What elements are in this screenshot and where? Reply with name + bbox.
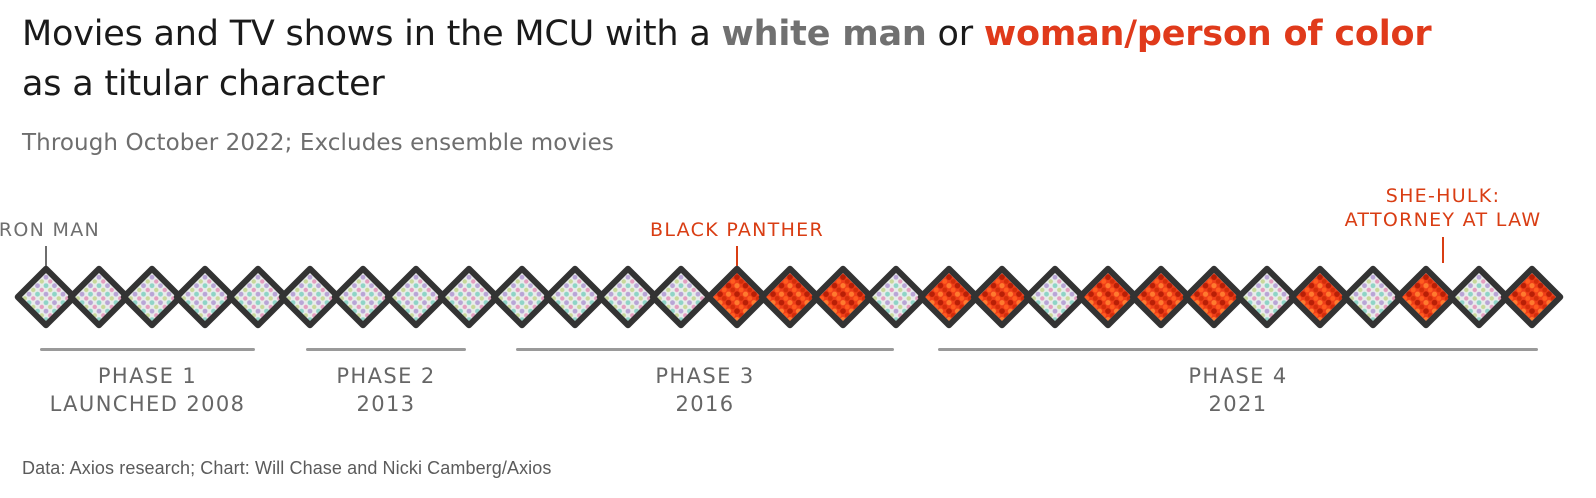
phase-group-4: PHASE 4 2021 [938, 348, 1538, 418]
title-line-2: as a titular character [22, 64, 385, 104]
callout-she-hulk: SHE-HULK: ATTORNEY AT LAW [1243, 184, 1596, 263]
phase-label: PHASE 4 2021 [938, 363, 1538, 418]
phase-rule [516, 348, 894, 351]
callout-tick [1442, 237, 1444, 263]
title-part-2: or [927, 14, 984, 54]
title-highlight-woman-poc: woman/person of color [984, 14, 1432, 54]
title-part-1: Movies and TV shows in the MCU with a [22, 14, 722, 54]
phase-group-2: PHASE 2 2013 [306, 348, 466, 418]
callout-label: BLACK PANTHER [537, 218, 937, 242]
chart-subtitle: Through October 2022; Excludes ensemble … [22, 130, 614, 156]
phase-rule [40, 348, 255, 351]
phase-label: PHASE 3 2016 [516, 363, 894, 418]
phase-rule [938, 348, 1538, 351]
callout-label: IRON MAN [0, 218, 246, 242]
phase-label: PHASE 2 2013 [306, 363, 466, 418]
phase-group-1: PHASE 1 LAUNCHED 2008 [40, 348, 255, 418]
phase-rule [306, 348, 466, 351]
source-credit: Data: Axios research; Chart: Will Chase … [22, 458, 552, 479]
phase-group-3: PHASE 3 2016 [516, 348, 894, 418]
callout-label: SHE-HULK: ATTORNEY AT LAW [1243, 184, 1596, 233]
marker-red [1499, 264, 1564, 329]
marker-border [1499, 264, 1564, 329]
axios-chart: Movies and TV shows in the MCU with a wh… [0, 0, 1596, 498]
phase-label: PHASE 1 LAUNCHED 2008 [40, 363, 255, 418]
marker-row [0, 274, 1596, 332]
page-title: Movies and TV shows in the MCU with a wh… [22, 10, 1572, 109]
plot-area: IRON MAN BLACK PANTHER SHE-HULK: ATTORNE… [0, 180, 1596, 420]
title-highlight-white-man: white man [722, 14, 927, 54]
